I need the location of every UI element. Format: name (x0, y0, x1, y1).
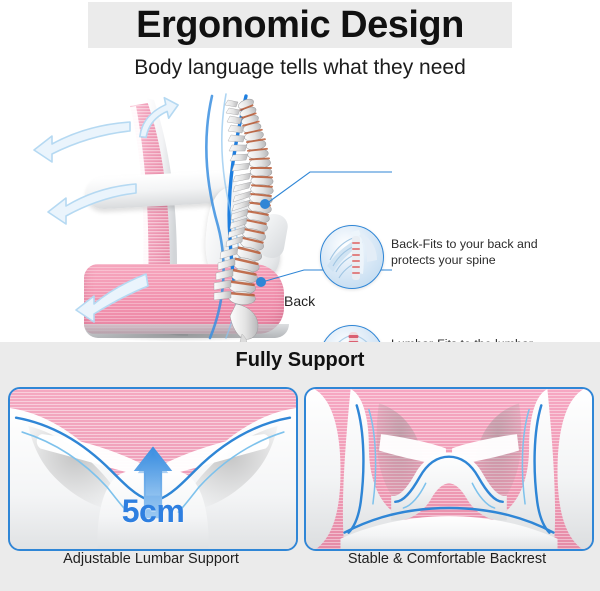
lumbar-support-panel: 5cm (8, 387, 298, 551)
spine-label-back: Back (284, 293, 315, 309)
callout-text-back: Back-Fits to your back and protects your… (391, 236, 567, 268)
page-title: Ergonomic Design (88, 2, 512, 48)
caption-backrest: Stable & Comfortable Backrest (304, 551, 590, 567)
backrest-panel (304, 387, 594, 551)
lumbar-measurement-label: 5cm (10, 493, 296, 530)
ergonomic-diagram: Back Lumbar (0, 92, 600, 342)
page-subtitle: Body language tells what they need (0, 56, 600, 80)
backrest-frame-illustration (306, 389, 592, 549)
spine-upper-circle-icon (320, 225, 384, 289)
support-banner-title: Fully Support (0, 342, 600, 379)
infographic-page: Ergonomic Design Body language tells wha… (0, 0, 600, 591)
caption-lumbar-support: Adjustable Lumbar Support (8, 551, 294, 567)
support-panels-area: 5cm (0, 379, 600, 591)
